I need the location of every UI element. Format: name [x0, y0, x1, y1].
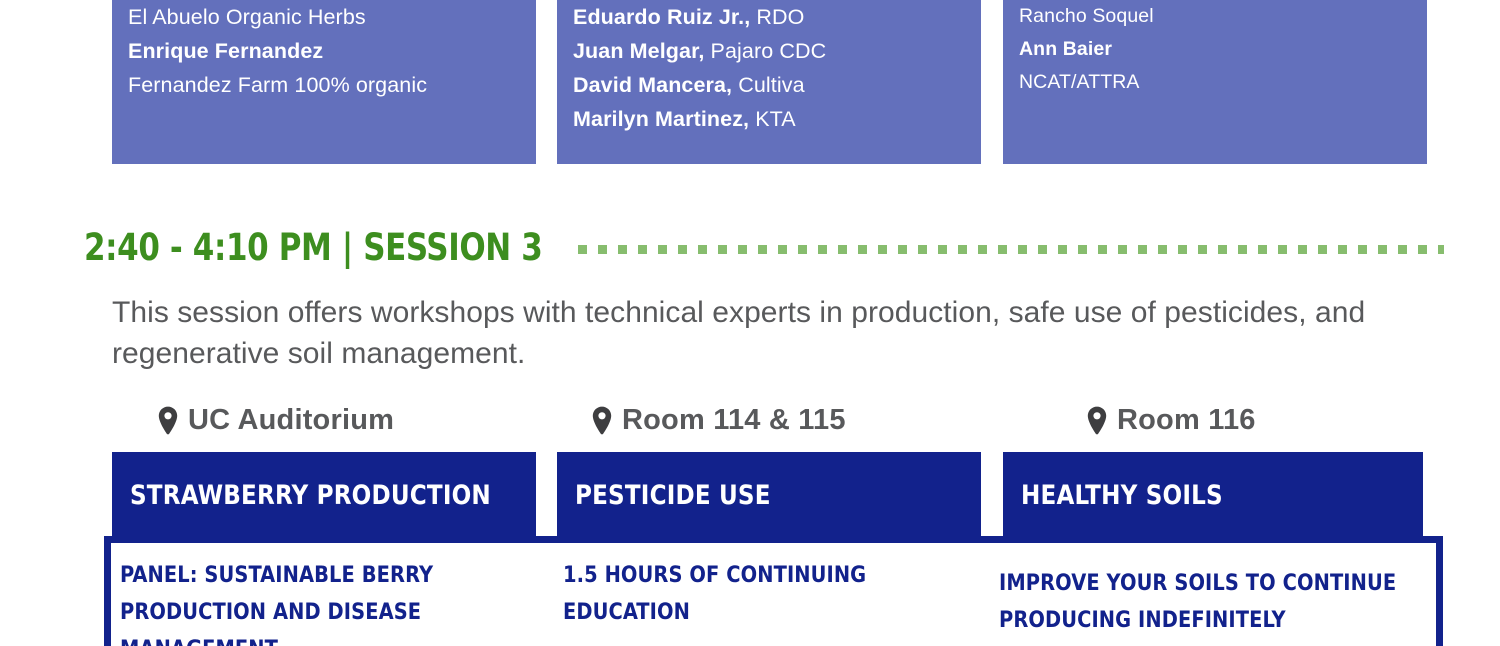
- room-name: UC Auditorium: [188, 404, 394, 437]
- speaker-name-line: Juan Melgar, Pajaro CDC: [573, 34, 965, 68]
- speaker-name-line: David Mancera, Cultiva: [573, 68, 965, 102]
- speaker-org: Pajaro CDC: [704, 39, 826, 63]
- dotted-rule-divider: [578, 245, 1444, 254]
- track-header: PESTICIDE USE: [557, 452, 981, 538]
- speaker-name: Eduardo Ruiz Jr.,: [573, 5, 750, 29]
- detail-title: 1.5 HOURS OF CONTINUING EDUCATION: [563, 557, 966, 631]
- speaker-name-line: Eduardo Ruiz Jr., RDO: [573, 0, 965, 34]
- speaker-name: Juan Melgar,: [573, 39, 704, 63]
- detail-column: IMPROVE YOUR SOILS TO CONTINUE PRODUCING…: [999, 565, 1429, 639]
- detail-column: PANEL: SUSTAINABLE BERRY PRODUCTION AND …: [120, 557, 540, 646]
- speaker-org: Cultiva: [732, 73, 805, 97]
- track-title: STRAWBERRY PRODUCTION: [130, 480, 491, 511]
- track-header: STRAWBERRY PRODUCTION: [112, 452, 536, 538]
- speaker-name-line: Enrique Fernandez: [128, 34, 520, 68]
- detail-title: IMPROVE YOUR SOILS TO CONTINUE PRODUCING…: [999, 565, 1412, 639]
- location-pin-icon: [1086, 406, 1108, 436]
- speaker-card: El Abuelo Organic Herbs Enrique Fernande…: [112, 0, 536, 164]
- speaker-org: NCAT/ATTRA: [1019, 66, 1411, 99]
- room-name: Room 116: [1117, 404, 1256, 437]
- speaker-name: Marilyn Martinez,: [573, 107, 749, 131]
- location-pin-icon: [157, 406, 179, 436]
- room-label: Room 114 & 115: [591, 404, 846, 437]
- speaker-org: KTA: [749, 107, 796, 131]
- speaker-org: Rancho Soquel: [1019, 0, 1411, 33]
- detail-column: 1.5 HOURS OF CONTINUING EDUCATION: [563, 557, 983, 631]
- track-header-bars: STRAWBERRY PRODUCTION PESTICIDE USE HEAL…: [0, 452, 1500, 538]
- location-pin-icon: [591, 406, 613, 436]
- speaker-name: David Mancera,: [573, 73, 732, 97]
- track-title: PESTICIDE USE: [575, 480, 771, 511]
- speaker-name-line: Ann Baier: [1019, 33, 1411, 66]
- speaker-cards-row: El Abuelo Organic Herbs Enrique Fernande…: [0, 0, 1500, 164]
- speaker-card: Rancho Soquel Ann Baier NCAT/ATTRA: [1003, 0, 1427, 164]
- speaker-org: RDO: [750, 5, 804, 29]
- speaker-org: Fernandez Farm 100% organic: [128, 68, 520, 102]
- room-label: UC Auditorium: [157, 404, 394, 437]
- speaker-org: El Abuelo Organic Herbs: [128, 0, 520, 34]
- speaker-card: Eduardo Ruiz Jr., RDO Juan Melgar, Pajar…: [557, 0, 981, 164]
- track-title: HEALTHY SOILS: [1021, 480, 1223, 511]
- speaker-name: Ann Baier: [1019, 38, 1112, 60]
- room-name: Room 114 & 115: [622, 404, 846, 437]
- session-description: This session offers workshops with techn…: [112, 292, 1402, 374]
- session-header: 2:40 - 4:10 PM | SESSION 3: [84, 222, 1444, 272]
- track-header: HEALTHY SOILS: [1003, 452, 1423, 538]
- room-label: Room 116: [1086, 404, 1256, 437]
- speaker-name: Enrique Fernandez: [128, 39, 323, 63]
- session-title: 2:40 - 4:10 PM | SESSION 3: [84, 226, 542, 269]
- room-labels-row: UC Auditorium Room 114 & 115 Room 116: [0, 404, 1500, 452]
- speaker-name-line: Marilyn Martinez, KTA: [573, 102, 965, 136]
- detail-title: PANEL: SUSTAINABLE BERRY PRODUCTION AND …: [120, 557, 523, 646]
